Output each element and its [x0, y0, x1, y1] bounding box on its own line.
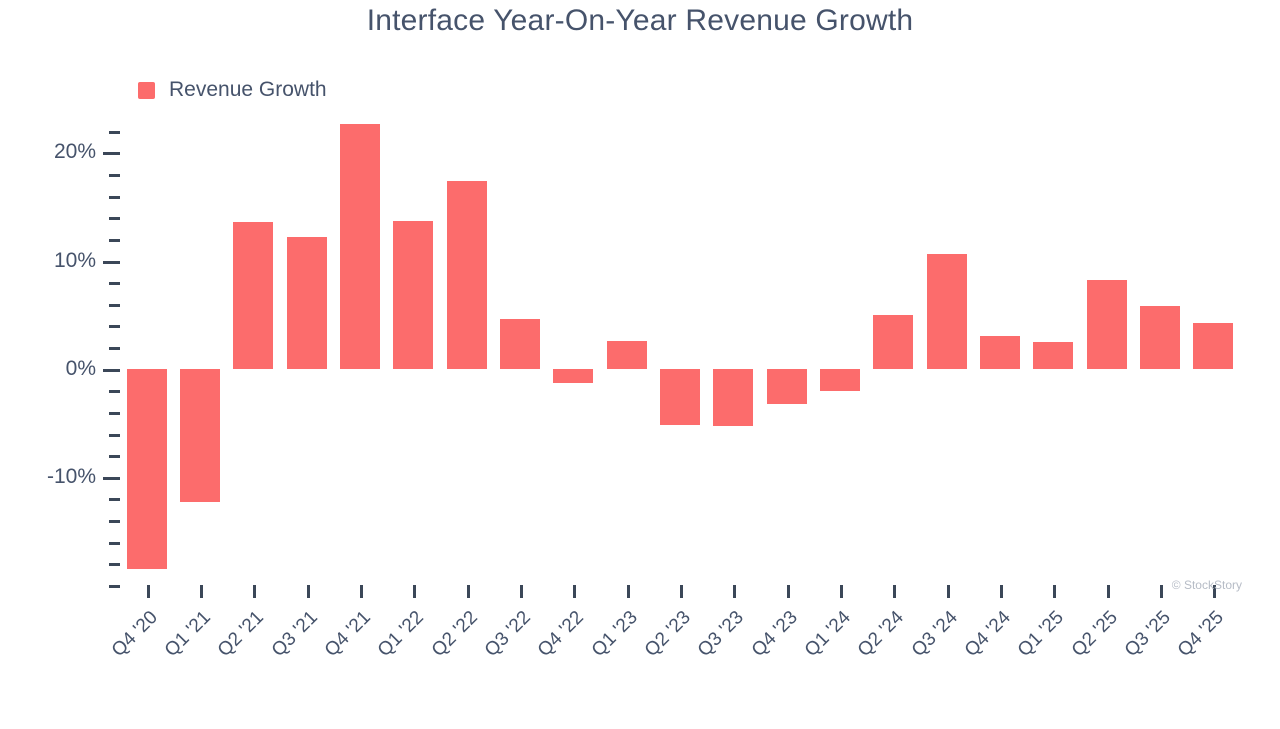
- bar-q2-21: [233, 222, 273, 369]
- x-tick: [893, 585, 896, 598]
- legend-label-revenue-growth: Revenue Growth: [169, 78, 327, 102]
- y-tick: [109, 282, 120, 285]
- y-tick: [103, 152, 120, 155]
- y-tick: [109, 390, 120, 393]
- bar-q3-21: [287, 237, 327, 369]
- y-axis-label: 10%: [54, 249, 96, 273]
- bar-q1-23: [607, 341, 647, 369]
- x-tick: [307, 585, 310, 598]
- bar-q3-22: [500, 319, 540, 369]
- bar-q3-23: [713, 369, 753, 426]
- chart-root: Interface Year-On-Year Revenue Growth Re…: [0, 0, 1280, 720]
- page-title: Interface Year-On-Year Revenue Growth: [0, 4, 1280, 38]
- y-tick: [109, 455, 120, 458]
- x-tick: [680, 585, 683, 598]
- bar-q1-24: [820, 369, 860, 392]
- x-tick: [1160, 585, 1163, 598]
- y-tick: [109, 174, 120, 177]
- bar-q4-23: [767, 369, 807, 405]
- y-tick: [109, 498, 120, 501]
- bar-q1-21: [180, 369, 220, 502]
- x-tick: [520, 585, 523, 598]
- bar-q2-25: [1087, 280, 1127, 369]
- y-tick: [109, 304, 120, 307]
- bar-q1-22: [393, 221, 433, 369]
- y-axis-label: 20%: [54, 140, 96, 164]
- y-tick: [109, 217, 120, 220]
- x-tick: [840, 585, 843, 598]
- x-tick: [573, 585, 576, 598]
- bar-q3-25: [1140, 306, 1180, 369]
- x-tick: [413, 585, 416, 598]
- y-axis: 20%10%0%-10%: [0, 120, 120, 585]
- x-tick: [200, 585, 203, 598]
- y-tick: [103, 477, 120, 480]
- bar-series-revenue-growth: [120, 120, 1240, 585]
- bar-q4-21: [340, 124, 380, 368]
- y-tick: [103, 369, 120, 372]
- bar-q4-20: [127, 369, 167, 569]
- bar-q2-24: [873, 315, 913, 369]
- y-tick: [109, 131, 120, 134]
- x-tick: [733, 585, 736, 598]
- x-tick: [627, 585, 630, 598]
- y-tick: [103, 261, 120, 264]
- watermark: © StockStory: [1172, 578, 1242, 592]
- y-tick: [109, 412, 120, 415]
- x-tick: [1107, 585, 1110, 598]
- x-tick: [1000, 585, 1003, 598]
- y-tick: [109, 347, 120, 350]
- x-axis: Q4 '20Q1 '21Q2 '21Q3 '21Q4 '21Q1 '22Q2 '…: [120, 585, 1240, 720]
- y-tick: [109, 563, 120, 566]
- bar-q2-23: [660, 369, 700, 425]
- y-tick: [109, 239, 120, 242]
- x-tick: [253, 585, 256, 598]
- y-tick: [109, 520, 120, 523]
- bar-q3-24: [927, 254, 967, 369]
- x-tick: [147, 585, 150, 598]
- bar-q4-25: [1193, 323, 1233, 368]
- y-axis-label: -10%: [47, 465, 96, 489]
- y-tick: [109, 434, 120, 437]
- y-tick: [109, 325, 120, 328]
- x-tick: [467, 585, 470, 598]
- plot-area: [120, 120, 1240, 585]
- bar-q2-22: [447, 181, 487, 369]
- x-tick: [787, 585, 790, 598]
- bar-q4-24: [980, 336, 1020, 368]
- chart-legend: Revenue Growth: [138, 78, 327, 102]
- y-tick: [109, 196, 120, 199]
- y-tick: [109, 585, 120, 588]
- bar-q4-22: [553, 369, 593, 383]
- y-tick: [109, 542, 120, 545]
- x-tick: [947, 585, 950, 598]
- bar-q1-25: [1033, 342, 1073, 369]
- x-tick: [1053, 585, 1056, 598]
- legend-swatch-revenue-growth: [138, 82, 155, 99]
- x-tick: [360, 585, 363, 598]
- y-axis-label: 0%: [66, 357, 96, 381]
